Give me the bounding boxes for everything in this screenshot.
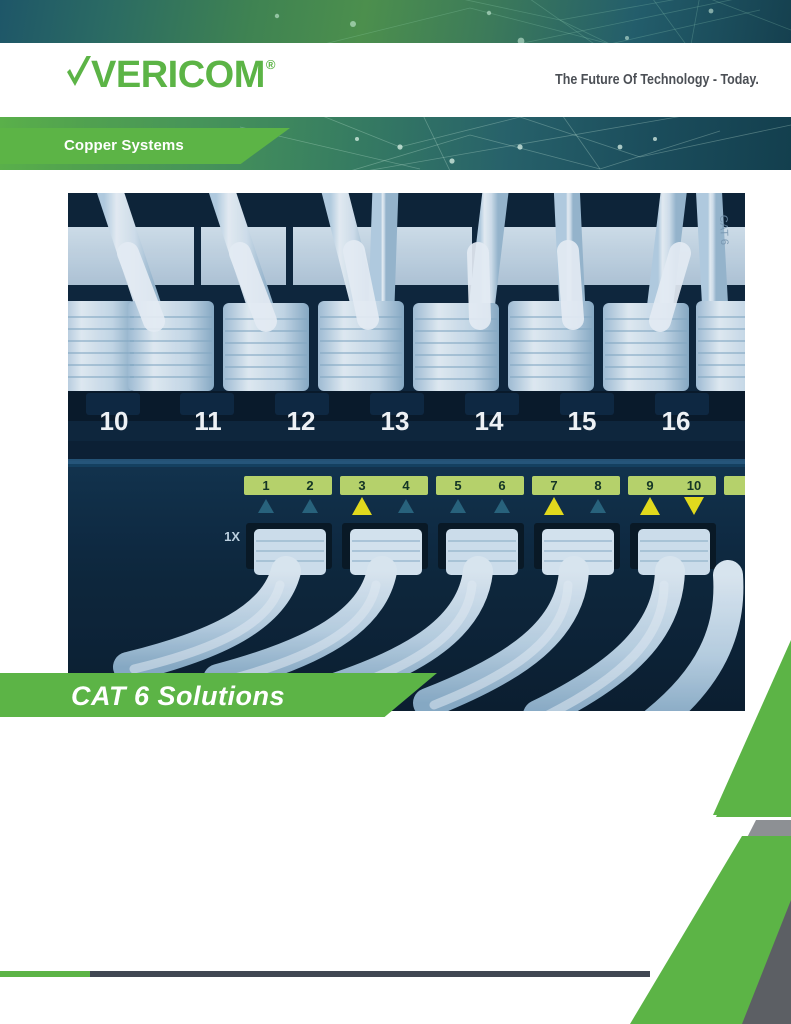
- network-pattern-graphic: [0, 0, 791, 43]
- title-ribbon-label: CAT 6 Solutions: [71, 681, 285, 712]
- vericom-logo: VERICOM ®: [64, 56, 275, 98]
- check-mark-icon: [64, 56, 94, 98]
- patch-panel-photograph: 10 11 12 13 14 15 16 CAT 6: [68, 193, 745, 711]
- category-ribbon-label: Copper Systems: [64, 137, 184, 154]
- hero-photo: 10 11 12 13 14 15 16 CAT 6: [68, 193, 745, 711]
- logo-registered-mark: ®: [266, 58, 276, 72]
- brochure-cover-page: VERICOM ® The Future Of Technology - Tod…: [0, 0, 791, 1024]
- logo-wordmark: VERICOM: [91, 56, 265, 94]
- brand-tagline: The Future Of Technology - Today.: [555, 72, 759, 88]
- header-gradient-band: [0, 0, 791, 43]
- footer-rule-accent: [0, 971, 90, 977]
- footer-rule: [90, 971, 650, 977]
